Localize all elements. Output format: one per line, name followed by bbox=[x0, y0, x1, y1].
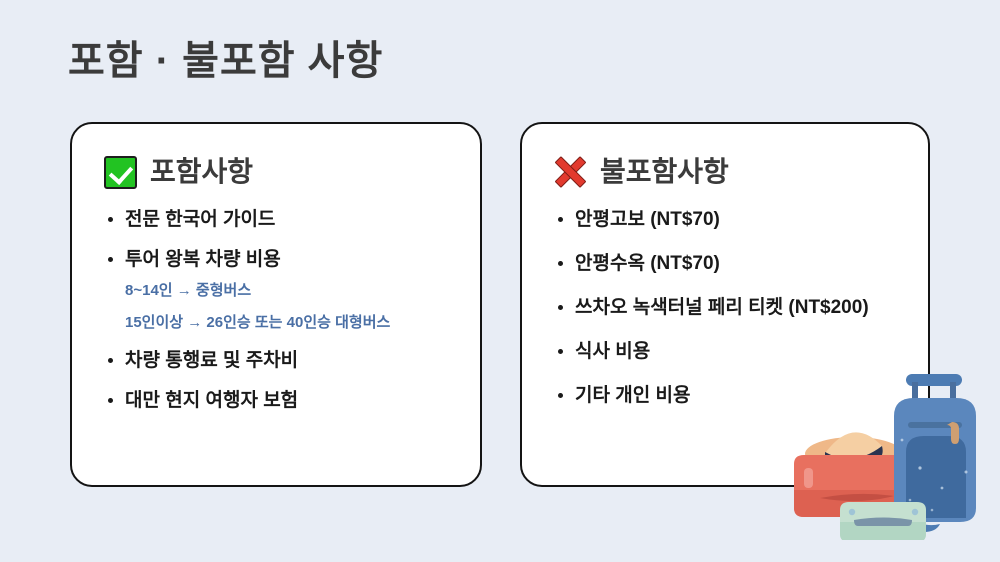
list-item: 식사 비용 bbox=[556, 342, 908, 361]
list-item-label: 쓰차오 녹색터널 페리 티켓 (NT$200) bbox=[575, 297, 869, 318]
included-list: 전문 한국어 가이드 투어 왕복 차량 비용 8~14인 → 중형버스 15인이… bbox=[72, 210, 480, 410]
list-item-label: 안평수옥 (NT$70) bbox=[575, 253, 720, 274]
list-item: 차량 통행료 및 주차비 bbox=[106, 351, 460, 370]
red-cross-mark-icon bbox=[554, 156, 587, 189]
list-item-label: 투어 왕복 차량 비용 bbox=[125, 249, 281, 270]
included-sublist: 8~14인 → 중형버스 15인이상 → 26인승 또는 40인승 대형버스 bbox=[125, 283, 460, 330]
included-card-header: 포함사항 bbox=[104, 152, 480, 192]
included-card: 포함사항 전문 한국어 가이드 투어 왕복 차량 비용 8~14인 → 중형버스… bbox=[70, 122, 482, 487]
list-item-label: 식사 비용 bbox=[575, 341, 650, 362]
included-card-title: 포함사항 bbox=[150, 158, 253, 186]
list-item: 투어 왕복 차량 비용 8~14인 → 중형버스 15인이상 → 26인승 또는… bbox=[106, 250, 460, 330]
list-item-label: 안평고보 (NT$70) bbox=[575, 209, 720, 230]
list-item-label: 차량 통행료 및 주차비 bbox=[125, 350, 298, 371]
list-item: 전문 한국어 가이드 bbox=[106, 210, 460, 229]
excluded-card-header: 불포함사항 bbox=[554, 152, 928, 192]
slide-root: 포함 · 불포함 사항 포함사항 전문 한국어 가이드 투어 왕복 차량 비용 … bbox=[0, 0, 1000, 562]
excluded-card-title: 불포함사항 bbox=[600, 158, 729, 186]
list-item: 쓰차오 녹색터널 페리 티켓 (NT$200) bbox=[556, 298, 908, 317]
excluded-card: 불포함사항 안평고보 (NT$70) 안평수옥 (NT$70) 쓰차오 녹색터널… bbox=[520, 122, 930, 487]
sub-list-item: 8~14인 → 중형버스 bbox=[125, 283, 460, 298]
list-item: 안평수옥 (NT$70) bbox=[556, 254, 908, 273]
green-check-box-icon bbox=[104, 156, 137, 189]
list-item-label: 기타 개인 비용 bbox=[575, 385, 690, 406]
list-item: 대만 현지 여행자 보험 bbox=[106, 391, 460, 410]
mint-case-icon bbox=[840, 502, 926, 540]
list-item: 안평고보 (NT$70) bbox=[556, 210, 908, 229]
sub-list-item: 15인이상 → 26인승 또는 40인승 대형버스 bbox=[125, 315, 460, 330]
list-item-label: 전문 한국어 가이드 bbox=[125, 209, 275, 230]
excluded-list: 안평고보 (NT$70) 안평수옥 (NT$70) 쓰차오 녹색터널 페리 티켓… bbox=[522, 210, 928, 405]
list-item: 기타 개인 비용 bbox=[556, 386, 908, 405]
page-title: 포함 · 불포함 사항 bbox=[68, 38, 383, 84]
list-item-label: 대만 현지 여행자 보험 bbox=[125, 390, 298, 411]
